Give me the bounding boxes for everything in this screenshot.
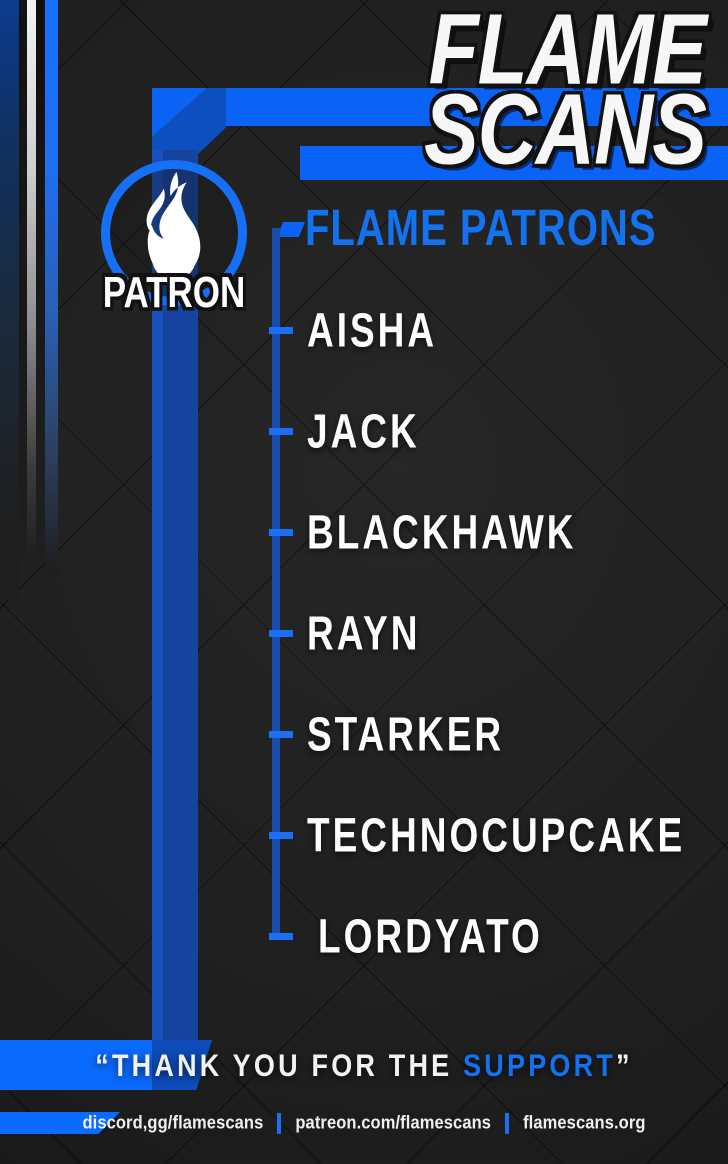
patron-name: RAYN: [307, 606, 420, 661]
patron-list: AISHA JACK BLACKHAWK RAYN STARKER TECHNO…: [266, 280, 728, 987]
list-item: TECHNOCUPCAKE: [266, 785, 728, 886]
list-item: JACK: [266, 381, 728, 482]
footer-links: discord,gg/flamescans patreon.com/flames…: [0, 1113, 728, 1134]
list-tick-icon: [269, 630, 293, 637]
patron-name: BLACKHAWK: [307, 505, 577, 560]
patron-name: AISHA: [307, 303, 437, 358]
section-heading: FLAME PATRONS: [305, 200, 657, 258]
patron-name: LORDYATO: [318, 909, 543, 964]
patron-name: STARKER: [307, 707, 504, 762]
footer-link-patreon[interactable]: patreon.com/flamescans: [295, 1113, 491, 1134]
list-item: LORDYATO: [266, 886, 728, 987]
list-item: BLACKHAWK: [266, 482, 728, 583]
list-tick-icon: [269, 832, 293, 839]
tagline-close-quote: ”: [616, 1048, 633, 1083]
footer-link-website[interactable]: flamescans.org: [523, 1113, 645, 1134]
tagline-text: THANK YOU FOR THE: [112, 1048, 463, 1083]
footer-link-discord[interactable]: discord,gg/flamescans: [82, 1113, 263, 1134]
list-item: RAYN: [266, 583, 728, 684]
list-item: AISHA: [266, 280, 728, 381]
patron-name: JACK: [307, 404, 420, 459]
list-tick-icon: [269, 529, 293, 536]
tagline-open-quote: “: [95, 1048, 112, 1083]
tagline: “THANK YOU FOR THE SUPPORT”: [0, 1048, 728, 1084]
footer-separator-icon: [277, 1113, 281, 1134]
list-tick-icon: [269, 731, 293, 738]
patron-poster: FLAME SCANS PATRON FLAME PATRONS AISHA J…: [0, 0, 728, 1164]
list-tick-icon: [269, 428, 293, 435]
patron-name: TECHNOCUPCAKE: [307, 808, 685, 863]
footer-separator-icon: [505, 1113, 509, 1134]
list-tick-icon: [269, 327, 293, 334]
patron-badge: PATRON: [101, 160, 247, 306]
badge-label: PATRON: [103, 268, 246, 318]
list-tick-icon: [269, 933, 293, 940]
list-item: STARKER: [266, 684, 728, 785]
tagline-highlight: SUPPORT: [463, 1048, 616, 1083]
